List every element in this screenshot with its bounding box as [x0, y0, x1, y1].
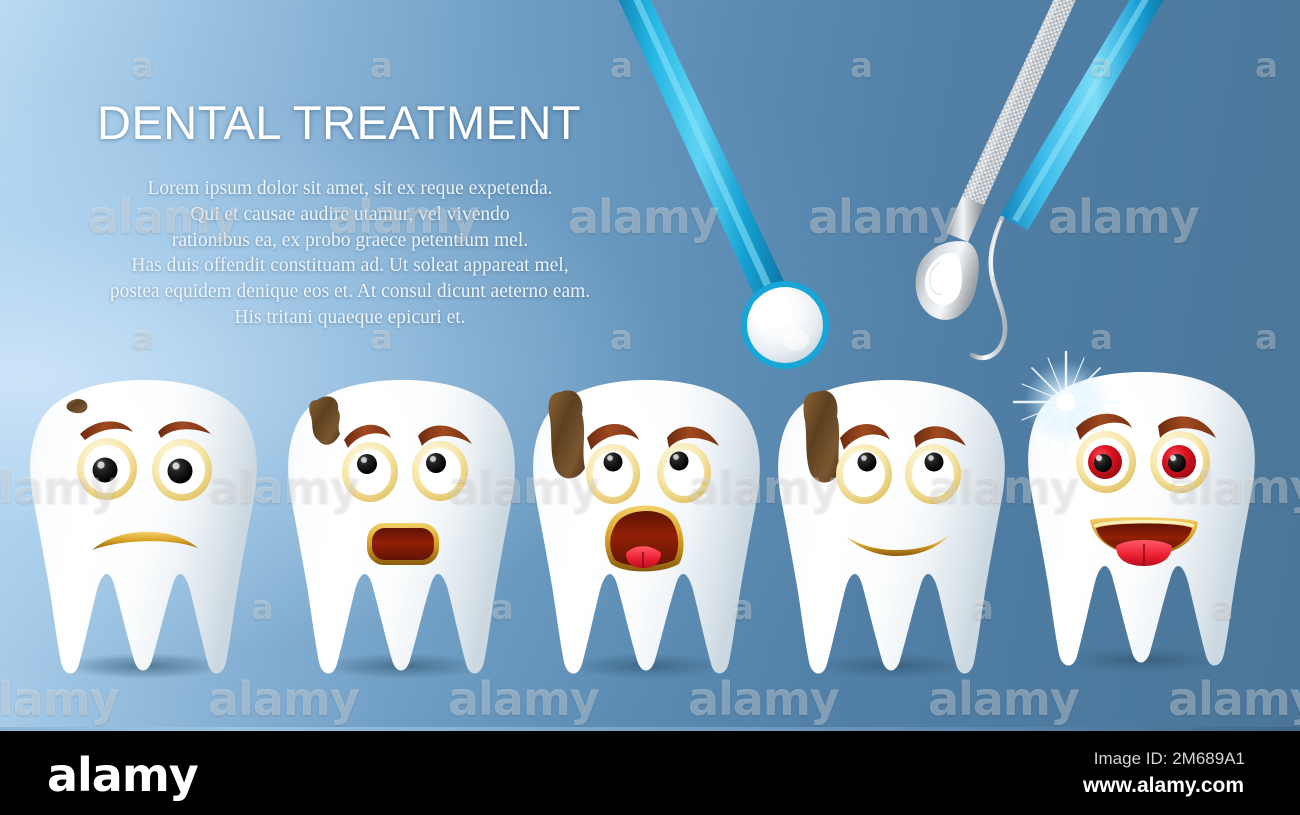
image-id-label: Image ID: 2M689A1 — [1094, 749, 1245, 769]
alamy-logo: alamy — [47, 748, 198, 802]
footer-divider — [0, 727, 1300, 731]
tooth-3[interactable] — [533, 380, 760, 679]
eye-right — [905, 444, 961, 504]
tooth-4[interactable] — [778, 380, 1005, 679]
tooth-5[interactable] — [1014, 352, 1255, 673]
alamy-url-label: www.alamy.com — [1083, 774, 1244, 798]
eye-left — [342, 442, 398, 502]
teeth-row — [0, 0, 1300, 727]
eye-right — [657, 443, 711, 503]
screenshot-root: DENTAL TREATMENT Lorem ipsum dolor sit a… — [0, 0, 1300, 815]
mouth-scream — [605, 505, 684, 571]
eye-right — [152, 439, 212, 501]
eye-left — [836, 444, 892, 504]
mouth-oval-open — [367, 523, 439, 565]
eye-right — [412, 441, 468, 501]
eye-left — [1076, 431, 1136, 493]
tooth-highlight — [30, 380, 257, 674]
eye-left — [586, 444, 640, 504]
tooth-1[interactable] — [30, 380, 257, 679]
alamy-footer-bar: alamy Image ID: 2M689A1 www.alamy.com — [0, 727, 1300, 815]
eye-left — [77, 438, 137, 500]
eye-right — [1150, 431, 1210, 493]
tooth-2[interactable] — [288, 380, 515, 679]
poster-artwork: DENTAL TREATMENT Lorem ipsum dolor sit a… — [0, 0, 1300, 727]
